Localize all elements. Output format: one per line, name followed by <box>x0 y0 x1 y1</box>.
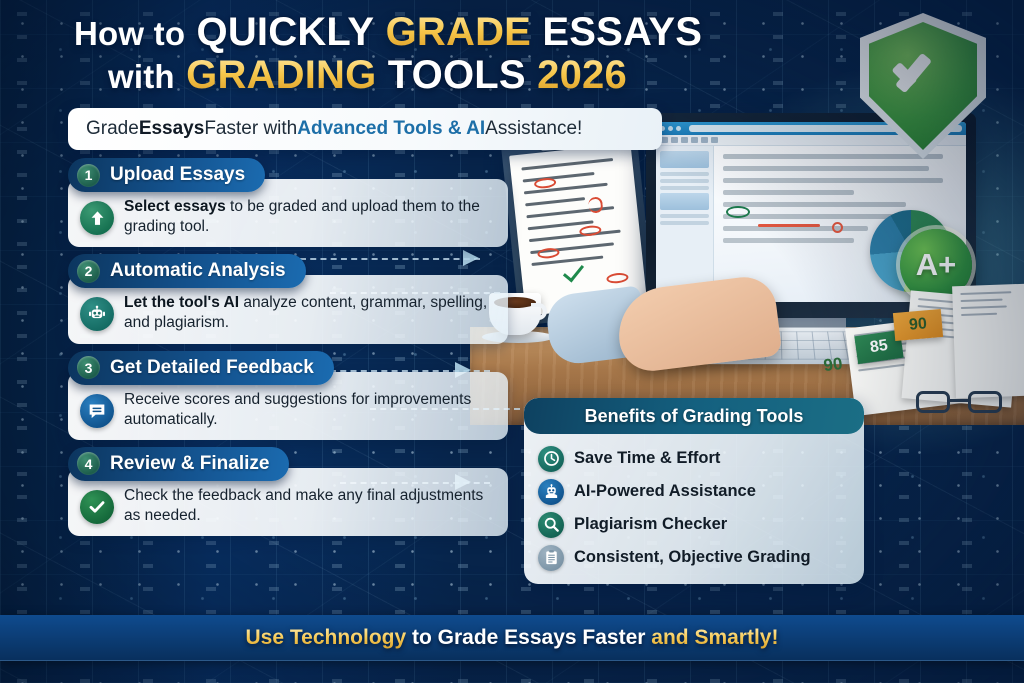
subtitle-part-2: Essays <box>139 118 205 140</box>
step-title: Review & Finalize <box>110 453 269 475</box>
step-description: Receive scores and suggestions for impro… <box>124 390 494 430</box>
subtitle-part-5: Assistance! <box>485 118 582 140</box>
benefit-label: Save Time & Effort <box>574 449 720 468</box>
step-description-bold: Let the tool's AI <box>124 294 239 311</box>
benefit-item-2[interactable]: AI-Powered Assistance <box>538 475 854 508</box>
step-number-badge: 4 <box>77 452 100 475</box>
benefit-item-1[interactable]: Save Time & Effort <box>538 442 854 475</box>
step-title: Upload Essays <box>110 164 245 186</box>
benefits-panel: Benefits of Grading Tools Save Time & Ef… <box>524 398 864 584</box>
benefit-item-3[interactable]: Plagiarism Checker <box>538 508 854 541</box>
subtitle-banner: Grade Essays Faster with Advanced Tools … <box>68 108 662 150</box>
step-item-3[interactable]: 3 Get Detailed Feedback Receive scores a… <box>68 351 508 440</box>
step-description: Select essays to be graded and upload th… <box>124 197 494 237</box>
step-number-badge: 1 <box>77 164 100 187</box>
benefits-header: Benefits of Grading Tools <box>524 398 864 434</box>
step-item-4[interactable]: 4 Review & Finalize Check the feedback a… <box>68 447 508 536</box>
step-title: Automatic Analysis <box>110 260 286 282</box>
title-word-with: with <box>108 58 175 95</box>
step-description-rest: Check the feedback and make any final ad… <box>124 487 483 524</box>
magnifier-icon <box>538 512 564 538</box>
title-word-grading: Grading <box>186 53 376 97</box>
upload-arrow-icon <box>80 201 114 235</box>
benefits-list: Save Time & Effort AI-Powered Assistance <box>524 434 864 580</box>
robot-icon <box>80 297 114 331</box>
benefit-label: Consistent, Objective Grading <box>574 548 811 567</box>
title-word-tools: Tools <box>388 53 526 97</box>
step-header-3[interactable]: 3 Get Detailed Feedback <box>68 351 334 385</box>
page-title: How to Quickly Grade Essays with Grading… <box>74 12 694 96</box>
step-number-badge: 2 <box>77 260 100 283</box>
subtitle-part-1: Grade <box>86 118 139 140</box>
title-word-year: 2026 <box>537 53 627 97</box>
step-header-1[interactable]: 1 Upload Essays <box>68 158 265 192</box>
subtitle-part-3: Faster with <box>204 118 297 140</box>
step-description: Check the feedback and make any final ad… <box>124 486 494 526</box>
footer-text: Use Technology to Grade Essays Faster an… <box>246 626 779 650</box>
robot-head-icon <box>538 479 564 505</box>
clipboard-icon <box>538 545 564 571</box>
benefit-item-4[interactable]: Consistent, Objective Grading <box>538 541 854 574</box>
step-item-2[interactable]: 2 Automatic Analysis <box>68 254 508 343</box>
benefit-label: Plagiarism Checker <box>574 515 727 534</box>
steps-list: 1 Upload Essays Select essays to be grad… <box>68 158 508 543</box>
benefit-label: AI-Powered Assistance <box>574 482 756 501</box>
step-number-badge: 3 <box>77 356 100 379</box>
step-header-4[interactable]: 4 Review & Finalize <box>68 447 289 481</box>
chat-bubble-icon <box>80 394 114 428</box>
step-description-rest: Receive scores and suggestions for impro… <box>124 391 471 428</box>
subtitle-part-4: Advanced Tools & AI <box>297 118 485 140</box>
step-item-1[interactable]: 1 Upload Essays Select essays to be grad… <box>68 158 508 247</box>
check-circle-icon <box>80 490 114 524</box>
step-description: Let the tool's AI analyze content, gramm… <box>124 293 494 333</box>
clock-icon <box>538 446 564 472</box>
footer-strip: Use Technology to Grade Essays Faster an… <box>0 615 1024 661</box>
step-header-2[interactable]: 2 Automatic Analysis <box>68 254 306 288</box>
benefits-title: Benefits of Grading Tools <box>585 406 804 427</box>
footer-text-gold-2: and Smartly! <box>651 626 778 649</box>
step-title: Get Detailed Feedback <box>110 357 314 379</box>
title-word-grade: Grade <box>386 10 531 54</box>
footer-text-gold-1: Use Technology <box>246 626 407 649</box>
footer-banner: Use Technology to Grade Essays Faster an… <box>0 607 1024 683</box>
step-description-bold: Select essays <box>124 198 226 215</box>
title-word-howto: How to <box>74 15 185 52</box>
footer-text-white: to Grade Essays Faster <box>406 626 651 649</box>
title-word-quickly: Quickly <box>197 10 375 54</box>
title-word-essays: Essays <box>542 10 702 54</box>
infographic-canvas: 92 A+ <box>0 0 1024 683</box>
